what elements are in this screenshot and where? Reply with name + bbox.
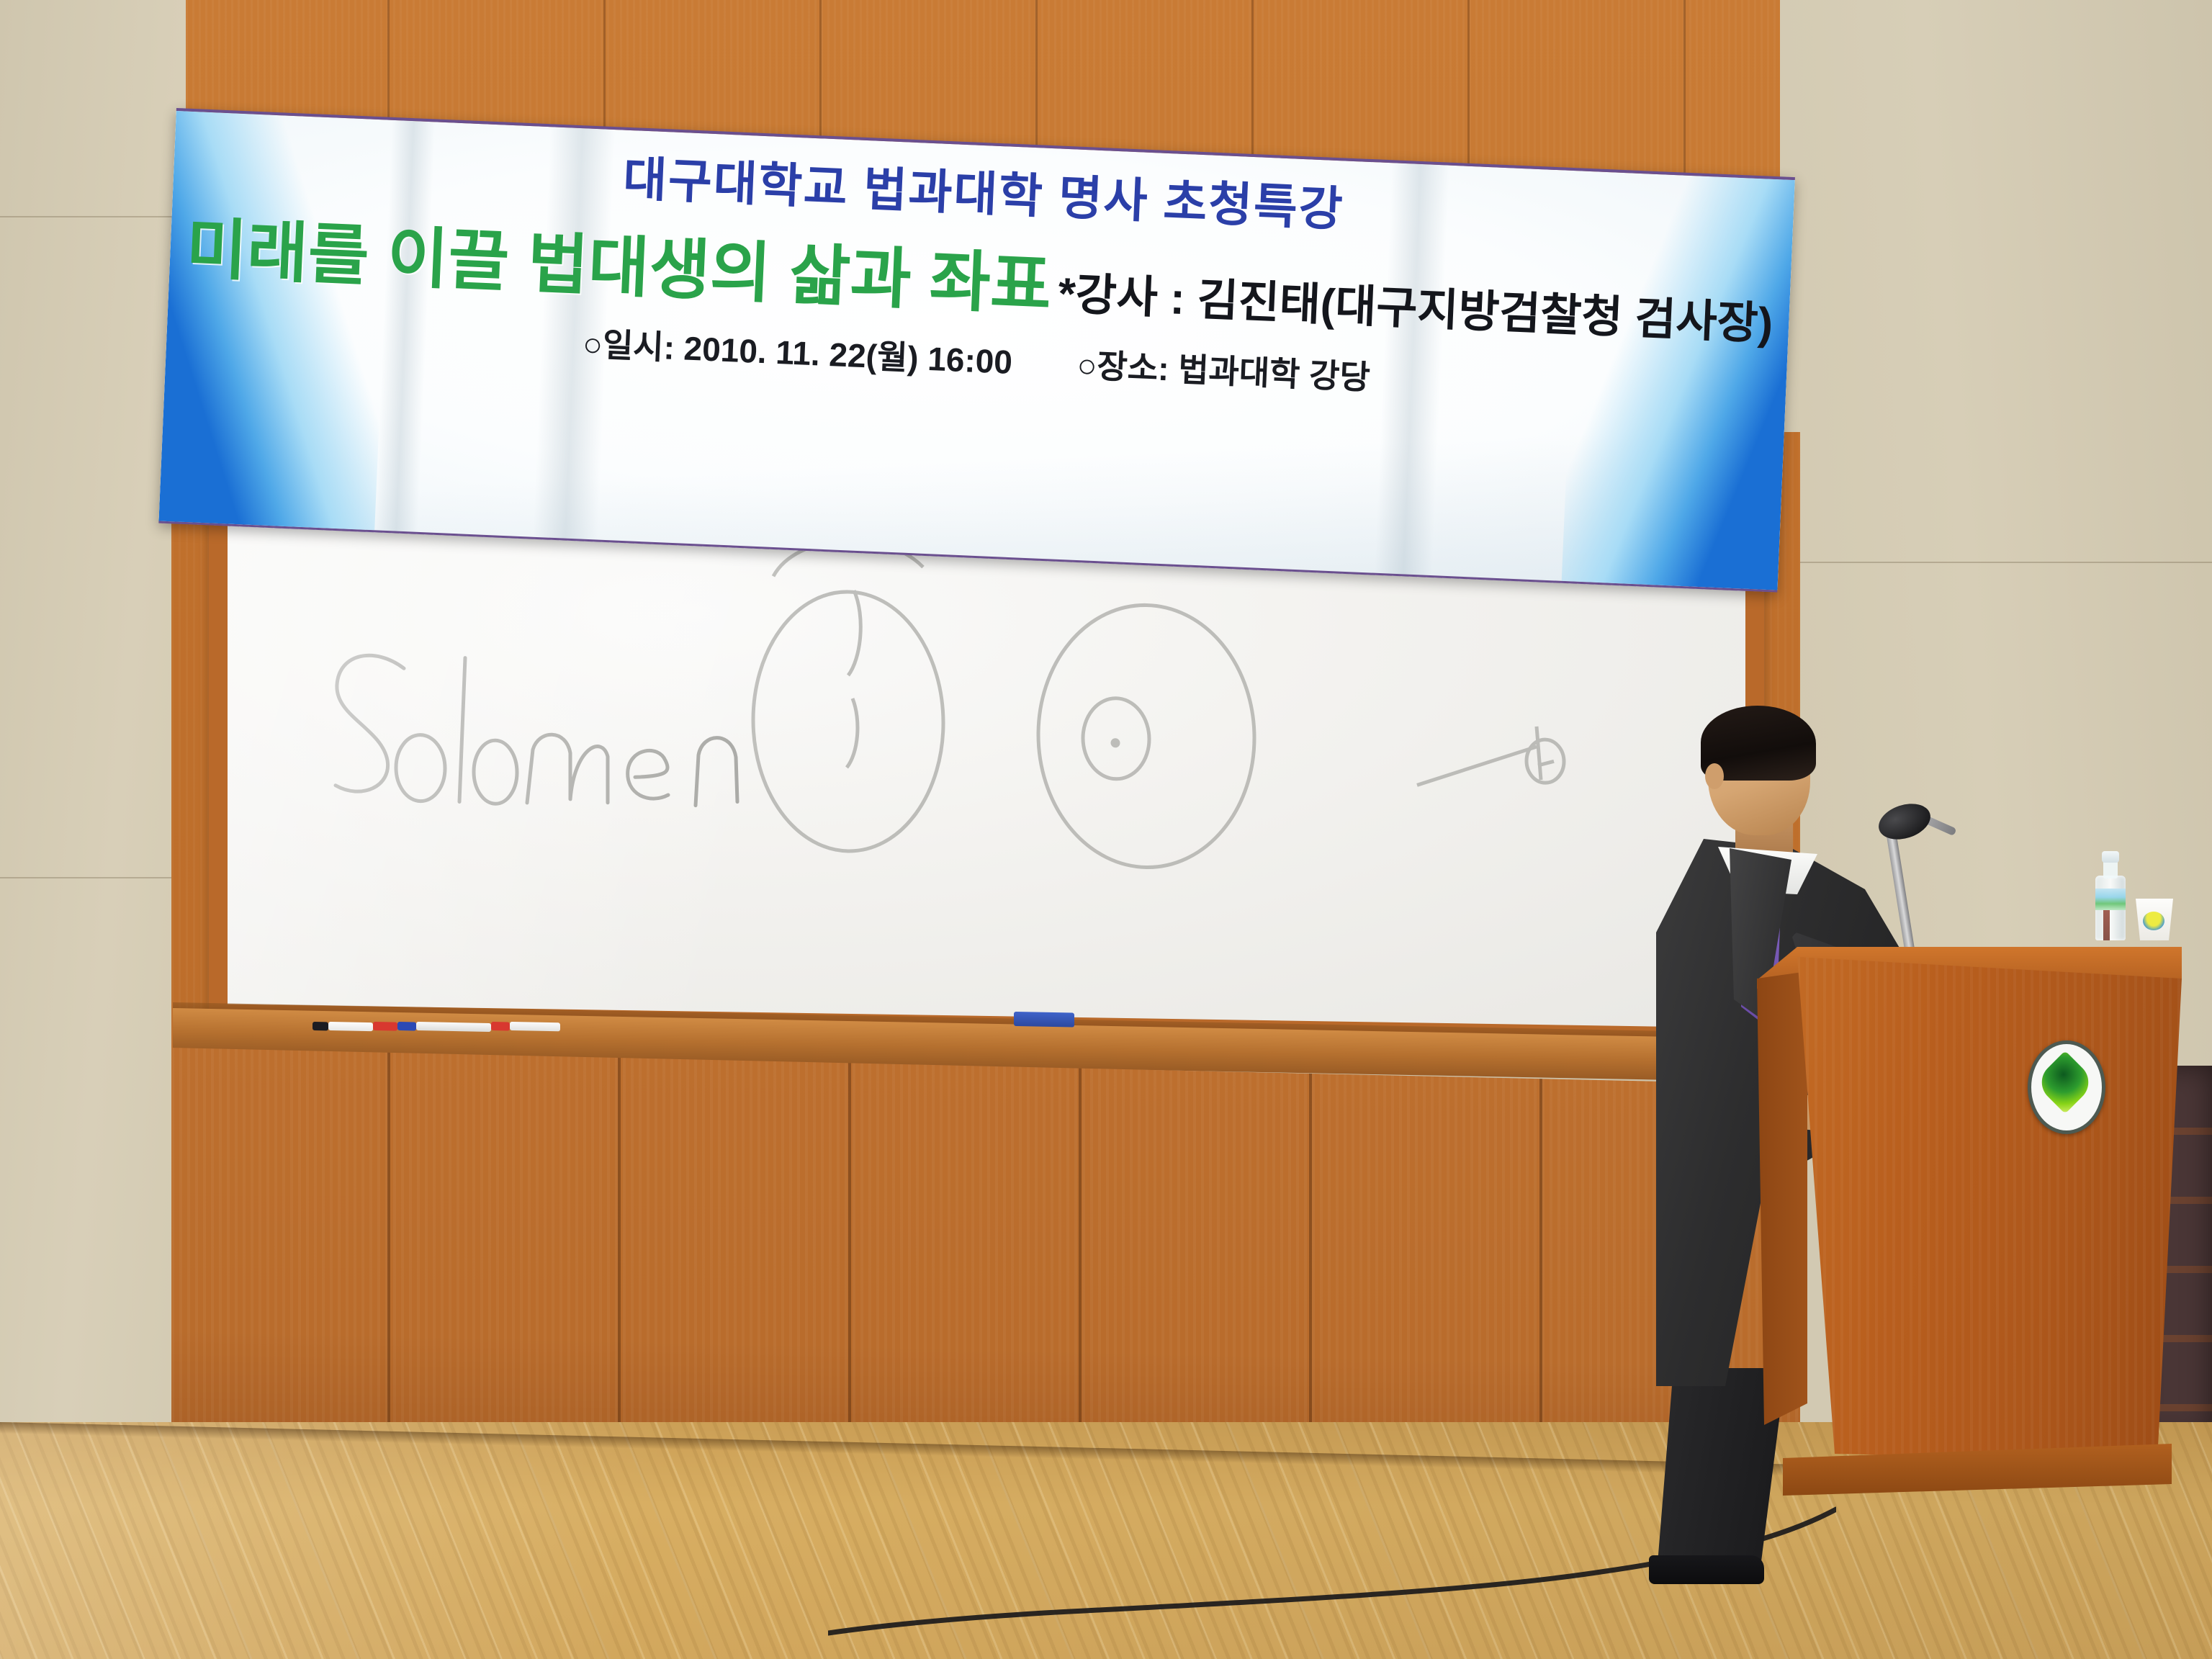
marker-black[interactable] — [313, 1022, 328, 1030]
marker-red[interactable] — [373, 1022, 397, 1031]
bottle-label — [2095, 889, 2126, 910]
marker-red-2[interactable] — [491, 1022, 510, 1030]
speaker-ear — [1705, 763, 1724, 789]
paper-cup[interactable] — [2136, 899, 2173, 940]
wall-seam — [0, 216, 186, 217]
bottle-inner-stripe — [2103, 910, 2110, 940]
emblem-leaf-shape — [2033, 1051, 2097, 1114]
banner-speaker-info: *강사 : 김진태(대구지방검찰청 검사장) — [1057, 257, 1774, 352]
banner-venue: ○장소: 법과대학 강당 — [1076, 339, 1372, 399]
marker-white-2[interactable] — [510, 1022, 560, 1031]
bottle-cap — [2102, 851, 2119, 863]
podium[interactable] — [1757, 947, 2182, 1581]
marker-body-white[interactable] — [416, 1022, 491, 1032]
wall-seam — [1779, 562, 2212, 563]
lecture-hall-photo: 대구대학교 법과대학 명사 초청특강 미래를 이끌 법대생의 삶과 좌표 *강사… — [0, 0, 2212, 1659]
banner-date: ○일시: 2010. 11. 22(월) 16:00 — [582, 318, 1013, 383]
marker-white[interactable] — [328, 1022, 373, 1031]
speaker-shoe — [1649, 1555, 1764, 1584]
podium-front-panel — [1797, 957, 2182, 1461]
wall-panel-left — [0, 0, 186, 1455]
event-banner: 대구대학교 법과대학 명사 초청특강 미래를 이끌 법대생의 삶과 좌표 *강사… — [158, 108, 1795, 593]
water-bottle[interactable] — [2094, 851, 2127, 940]
marker-blue[interactable] — [397, 1022, 416, 1030]
cup-logo-icon — [2143, 912, 2164, 930]
wall-seam — [0, 877, 186, 878]
whiteboard-eraser[interactable] — [1014, 1012, 1074, 1028]
university-emblem-icon — [2028, 1040, 2105, 1134]
